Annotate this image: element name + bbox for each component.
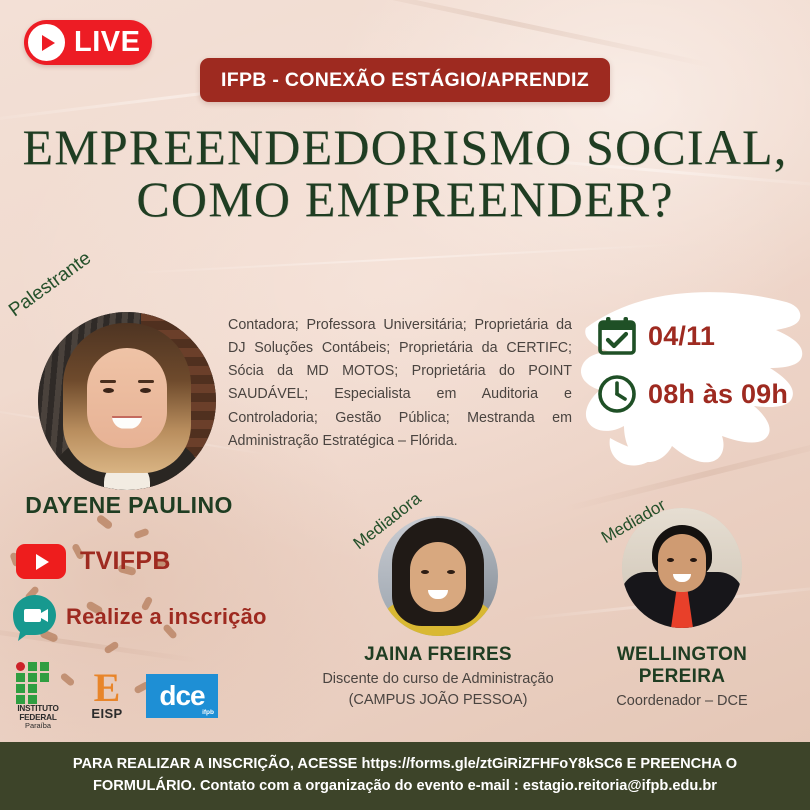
- registration-row[interactable]: Realize a inscrição: [10, 592, 267, 642]
- mediator-info-1: JAINA FREIRES Discente do curso de Admin…: [318, 644, 558, 711]
- dce-logo: dce ifpb: [146, 674, 218, 718]
- ifpb-mark-icon: [16, 662, 60, 702]
- page-title: EMPREENDEDORISMO SOCIAL, COMO EMPREENDER…: [0, 122, 810, 225]
- schedule-time-row: 08h às 09h: [596, 370, 810, 418]
- event-series-ribbon: IFPB - CONEXÃO ESTÁGIO/APRENDIZ: [200, 58, 610, 102]
- mediator-avatar-1: [378, 516, 498, 636]
- speaker-role-label: Palestrante: [5, 248, 96, 322]
- footer-line-1: PARA REALIZAR A INSCRIÇÃO, ACESSE https:…: [73, 754, 737, 776]
- speaker-bio: Contadora; Professora Universitária; Pro…: [228, 314, 572, 453]
- youtube-icon[interactable]: [16, 544, 66, 579]
- mediator-role-line1-2: Coordenador – DCE: [572, 691, 792, 712]
- schedule-date-row: 04/11: [596, 312, 810, 360]
- event-time: 08h às 09h: [648, 379, 788, 410]
- dce-logo-sub: ifpb: [202, 709, 214, 716]
- mediator-name-2: WELLINGTON PEREIRA: [572, 644, 792, 688]
- dce-logo-label: dce: [159, 682, 204, 710]
- mediator-name-1: JAINA FREIRES: [318, 644, 558, 666]
- footer-line-2: FORMULÁRIO. Contato com a organização do…: [93, 776, 717, 798]
- ifpb-logo-line1: INSTITUTO: [8, 704, 68, 713]
- paper-crease: [120, 243, 679, 274]
- event-poster: LIVE IFPB - CONEXÃO ESTÁGIO/APRENDIZ EMP…: [0, 0, 810, 810]
- speaker-name: DAYENE PAULINO: [0, 492, 258, 519]
- confetti-dash: [133, 528, 149, 540]
- registration-label[interactable]: Realize a inscrição: [66, 604, 267, 630]
- youtube-channel-label[interactable]: TVIFPB: [80, 547, 171, 576]
- ribbon-label: IFPB - CONEXÃO ESTÁGIO/APRENDIZ: [221, 69, 589, 92]
- eisp-logo-label: EISP: [81, 706, 133, 721]
- registration-footer: PARA REALIZAR A INSCRIÇÃO, ACESSE https:…: [0, 742, 810, 810]
- youtube-channel-row[interactable]: TVIFPB: [16, 544, 171, 579]
- confetti-dash: [103, 640, 119, 654]
- live-badge: LIVE: [24, 20, 152, 65]
- calendar-check-icon: [596, 315, 642, 357]
- clock-icon: [596, 373, 642, 415]
- play-icon: [26, 22, 67, 63]
- ifpb-logo: INSTITUTO FEDERAL Paraíba: [8, 662, 68, 730]
- title-line-1: EMPREENDEDORISMO SOCIAL,: [0, 122, 810, 174]
- eisp-logo: E EISP: [81, 671, 133, 720]
- video-camera-icon[interactable]: [10, 592, 60, 642]
- mediator-role-line2-1: (CAMPUS JOÃO PESSOA): [318, 690, 558, 711]
- speaker-avatar: [38, 312, 216, 490]
- ifpb-logo-line3: Paraíba: [8, 722, 68, 730]
- logo-strip: INSTITUTO FEDERAL Paraíba E EISP dce ifp…: [8, 662, 218, 730]
- mediator-info-2: WELLINGTON PEREIRA Coordenador – DCE: [572, 644, 792, 712]
- mediator-role-line1-1: Discente do curso de Administração: [318, 669, 558, 690]
- schedule-block: 04/11 08h às 09h: [596, 312, 810, 428]
- event-date: 04/11: [648, 321, 715, 352]
- live-label: LIVE: [74, 26, 140, 59]
- title-line-2: COMO EMPREENDER?: [0, 174, 810, 226]
- eisp-mark-icon: E: [81, 671, 133, 705]
